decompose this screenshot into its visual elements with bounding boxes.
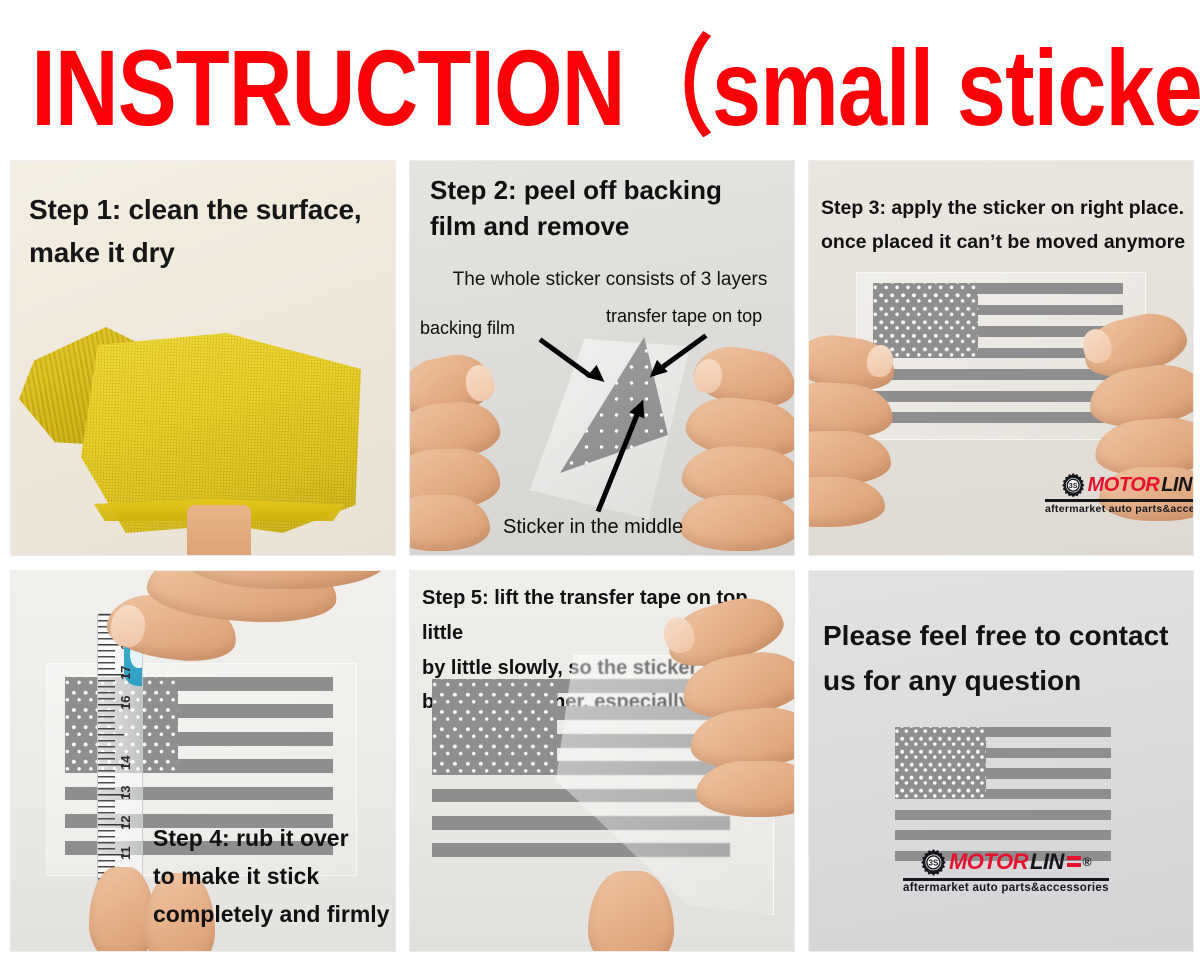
step-2-heading-line-1: Step 2: peel off backing (430, 173, 782, 209)
step-2-heading-line-2: film and remove (430, 209, 782, 245)
flag-canton (432, 679, 557, 775)
supporting-thumb (588, 871, 708, 952)
arrow-to-backing-film (540, 337, 610, 387)
panel-step-5: Step 5: lift the transfer tape on top li… (409, 570, 795, 952)
hand-under-towel (187, 505, 251, 556)
page-title-bar: INSTRUCTION（small sticker） (0, 34, 1200, 144)
finger (680, 495, 795, 551)
panel-step-4: 18 17 16 14 13 12 11 10 9 Ste (10, 570, 396, 952)
steps-grid: Step 1: clean the surface, make it dry S… (10, 160, 1194, 952)
step-1-caption-line-1: Step 1: clean the surface, (29, 189, 389, 232)
svg-text:3S: 3S (1069, 481, 1078, 490)
logo-divider (903, 878, 1109, 881)
step-4-caption-line-1: Step 4: rub it over (153, 819, 396, 857)
brand-tagline: aftermarket auto parts&accessories (1045, 503, 1194, 515)
ruler-mark: 12 (118, 816, 133, 830)
right-hand-lifting-tape (672, 577, 795, 817)
step-4-caption: Step 4: rub it over to make it stick com… (153, 819, 396, 934)
step-2-heading: Step 2: peel off backing film and remove (430, 173, 782, 245)
stripe (895, 830, 1111, 840)
flag-canton (895, 727, 986, 799)
svg-text:3S: 3S (929, 859, 939, 868)
contact-caption-line-2: us for any question (823, 658, 1185, 703)
step-3-caption: Step 3: apply the sticker on right place… (821, 191, 1189, 259)
panel-step-3: Step 3: apply the sticker on right place… (808, 160, 1194, 556)
finger (588, 871, 674, 952)
microfiber-towel-photo (19, 323, 391, 556)
ruler-mark: 16 (118, 696, 133, 710)
left-hand (808, 333, 895, 523)
registered-mark: ® (1083, 855, 1092, 869)
step-3-caption-line-2: once placed it can’t be moved anymore (821, 225, 1189, 259)
gear-icon: 3S (1061, 473, 1085, 497)
arrow-to-sticker-middle (596, 405, 666, 515)
flag-graphic (895, 727, 1111, 861)
page-title: INSTRUCTION（small sticker） (0, 33, 1200, 145)
step-2-subtitle: The whole sticker consists of 3 layers (436, 269, 784, 291)
contact-caption-line-1: Please feel free to contact (823, 613, 1185, 658)
stripe (895, 810, 1111, 820)
panel-contact: Please feel free to contact us for any q… (808, 570, 1194, 952)
brand-name-red: MOTOR (949, 849, 1028, 875)
panel-step-2: Step 2: peel off backing film and remove… (409, 160, 795, 556)
step-3-caption-line-1: Step 3: apply the sticker on right place… (821, 191, 1189, 225)
brand-logo-wordmark: 3S MOTORLIN® (1061, 473, 1194, 497)
panel-step-1: Step 1: clean the surface, make it dry (10, 160, 396, 556)
finger (808, 477, 885, 527)
brand-tagline: aftermarket auto parts&accessories (903, 882, 1109, 894)
label-transfer-tape: transfer tape on top (606, 306, 762, 327)
ruler-mark: 11 (118, 846, 133, 860)
ruler-mark: 13 (118, 786, 133, 800)
brand-logo: 3S MOTORLIN® aftermarket auto parts&acce… (903, 849, 1109, 894)
brand-name-black: LIN (1030, 849, 1064, 875)
brand-logo-wordmark: 3S MOTORLIN® (920, 849, 1091, 876)
logo-divider (1045, 499, 1194, 502)
hand-holding-ruler (107, 570, 377, 695)
flag-stars-row-b (895, 727, 986, 799)
brand-name-red: MOTOR (1088, 474, 1160, 497)
label-backing-film: backing film (420, 318, 515, 339)
step-4-caption-line-3: completely and firmly (153, 895, 396, 933)
contact-caption: Please feel free to contact us for any q… (823, 613, 1185, 704)
us-flag-decal (895, 727, 1111, 861)
label-sticker-middle: Sticker in the middle (503, 516, 683, 539)
step-1-caption-line-2: make it dry (29, 232, 389, 275)
finger (696, 761, 795, 817)
ruler-mark: 14 (118, 756, 133, 770)
brand-name-black: LIN (1161, 474, 1192, 497)
equals-glyph-icon (1067, 853, 1081, 872)
instruction-infographic: INSTRUCTION（small sticker） Step 1: clean… (0, 0, 1200, 962)
step-4-caption-line-2: to make it stick (153, 857, 396, 895)
flag-stars-row-b (432, 679, 557, 775)
gear-icon: 3S (920, 849, 947, 876)
brand-logo: 3S MOTORLIN® aftermarket auto parts&acce… (1045, 473, 1194, 515)
arrow-to-transfer-tape (640, 333, 720, 389)
step-1-caption: Step 1: clean the surface, make it dry (29, 189, 389, 274)
